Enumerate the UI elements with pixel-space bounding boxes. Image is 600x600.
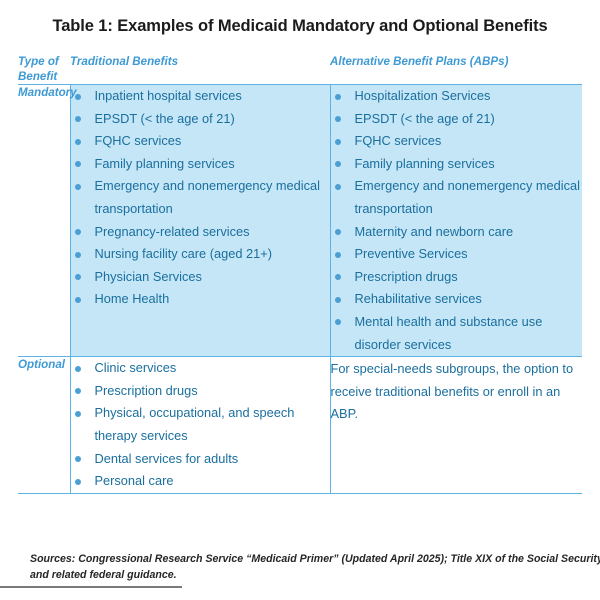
list-item: Maternity and newborn care [331, 221, 583, 244]
list-item: Personal care [71, 470, 330, 493]
benefits-table: Type of Benefit Traditional Benefits Alt… [18, 54, 582, 494]
page-title: Table 1: Examples of Medicaid Mandatory … [0, 17, 600, 36]
list-item: FQHC services [331, 130, 583, 153]
list-item: Prescription drugs [331, 266, 583, 289]
list-item: Rehabilitative services [331, 288, 583, 311]
column-header-type-of-benefit: Type of Benefit [18, 54, 70, 85]
cell-mandatory-traditional: Inpatient hospital services EPSDT (< the… [70, 85, 330, 357]
table-head: Type of Benefit Traditional Benefits Alt… [18, 54, 582, 85]
optional-abp-text: For special-needs subgroups, the option … [331, 357, 583, 426]
list-item: EPSDT (< the age of 21) [71, 108, 330, 131]
sources-line-1: Sources: Congressional Research Service … [30, 552, 600, 568]
table-bottom-border [18, 493, 582, 494]
list-item: Nursing facility care (aged 21+) [71, 243, 330, 266]
list-item: EPSDT (< the age of 21) [331, 108, 583, 131]
sources-note: Sources: Congressional Research Service … [30, 552, 600, 583]
list-mandatory-abp: Hospitalization Services EPSDT (< the ag… [331, 85, 583, 356]
table-header-row: Type of Benefit Traditional Benefits Alt… [18, 54, 582, 85]
list-item: Physician Services [71, 266, 330, 289]
list-item: Prescription drugs [71, 380, 330, 403]
list-item: Emergency and nonemergency medical trans… [71, 175, 330, 220]
cell-optional-traditional: Clinic services Prescription drugs Physi… [70, 357, 330, 494]
list-item: Hospitalization Services [331, 85, 583, 108]
list-item: Pregnancy-related services [71, 221, 330, 244]
list-item: Emergency and nonemergency medical trans… [331, 175, 583, 220]
column-header-alternative-benefit-plans: Alternative Benefit Plans (ABPs) [330, 54, 582, 85]
list-item: Physical, occupational, and speech thera… [71, 402, 330, 447]
table-row-mandatory: Mandatory Inpatient hospital services EP… [18, 85, 582, 357]
list-item: Inpatient hospital services [71, 85, 330, 108]
list-item: Clinic services [71, 357, 330, 380]
list-mandatory-traditional: Inpatient hospital services EPSDT (< the… [71, 85, 330, 311]
list-item: Mental health and substance use disorder… [331, 311, 583, 356]
sources-line-2: and related federal guidance. [30, 568, 600, 584]
row-label-mandatory: Mandatory [18, 85, 70, 357]
table-bottom-border-cell-3 [330, 493, 582, 494]
list-item: Preventive Services [331, 243, 583, 266]
list-item: FQHC services [71, 130, 330, 153]
cell-mandatory-abp: Hospitalization Services EPSDT (< the ag… [330, 85, 582, 357]
column-header-traditional-benefits: Traditional Benefits [70, 54, 330, 85]
table-figure-page: Table 1: Examples of Medicaid Mandatory … [0, 0, 600, 600]
list-item: Family planning services [331, 153, 583, 176]
list-item: Home Health [71, 288, 330, 311]
cell-optional-abp: For special-needs subgroups, the option … [330, 357, 582, 494]
table-bottom-border-cell-1 [18, 493, 70, 494]
list-item: Dental services for adults [71, 448, 330, 471]
footnote-separator-rule [0, 586, 182, 588]
table-bottom-border-cell-2 [70, 493, 330, 494]
list-item: Family planning services [71, 153, 330, 176]
table-body: Mandatory Inpatient hospital services EP… [18, 85, 582, 494]
table-row-optional: Optional Clinic services Prescription dr… [18, 357, 582, 494]
row-label-optional: Optional [18, 357, 70, 494]
list-optional-traditional: Clinic services Prescription drugs Physi… [71, 357, 330, 493]
